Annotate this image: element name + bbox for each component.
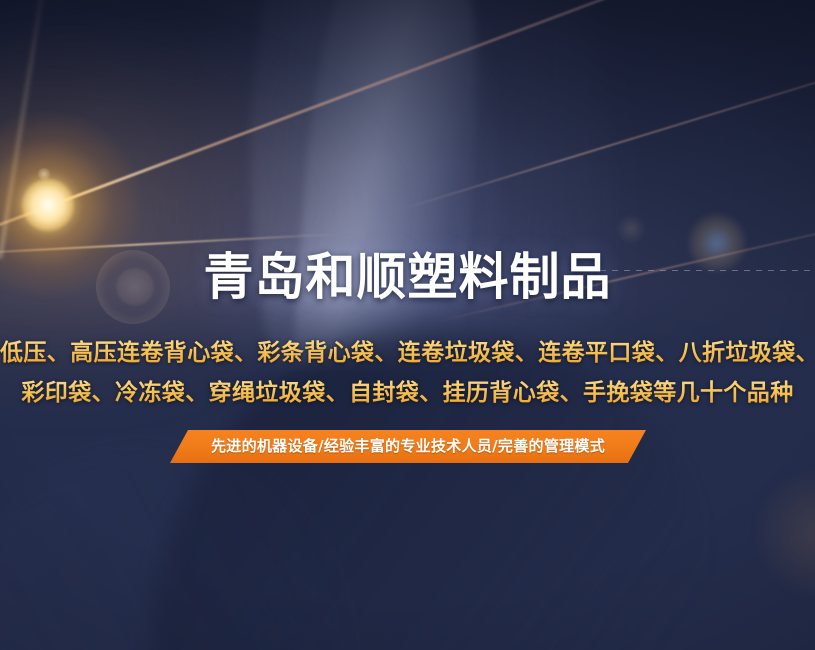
banner-title: 青岛和顺塑料制品: [0, 248, 815, 306]
banner-content: 青岛和顺塑料制品 低压、高压连卷背心袋、彩条背心袋、连卷垃圾袋、连卷平口袋、八折…: [0, 0, 815, 650]
product-list-line-1: 低压、高压连卷背心袋、彩条背心袋、连卷垃圾袋、连卷平口袋、八折垃圾袋、: [0, 333, 815, 373]
product-list-line-2: 彩印袋、冷冻袋、穿绳垃圾袋、自封袋、挂历背心袋、手挽袋等几十个品种: [0, 373, 815, 413]
product-list: 低压、高压连卷背心袋、彩条背心袋、连卷垃圾袋、连卷平口袋、八折垃圾袋、 彩印袋、…: [0, 333, 815, 413]
promo-banner: 青岛和顺塑料制品 低压、高压连卷背心袋、彩条背心袋、连卷垃圾袋、连卷平口袋、八折…: [0, 0, 815, 650]
feature-ribbon-label: 先进的机器设备/经验丰富的专业技术人员/完善的管理模式: [170, 430, 646, 463]
feature-ribbon: 先进的机器设备/经验丰富的专业技术人员/完善的管理模式: [170, 430, 646, 463]
